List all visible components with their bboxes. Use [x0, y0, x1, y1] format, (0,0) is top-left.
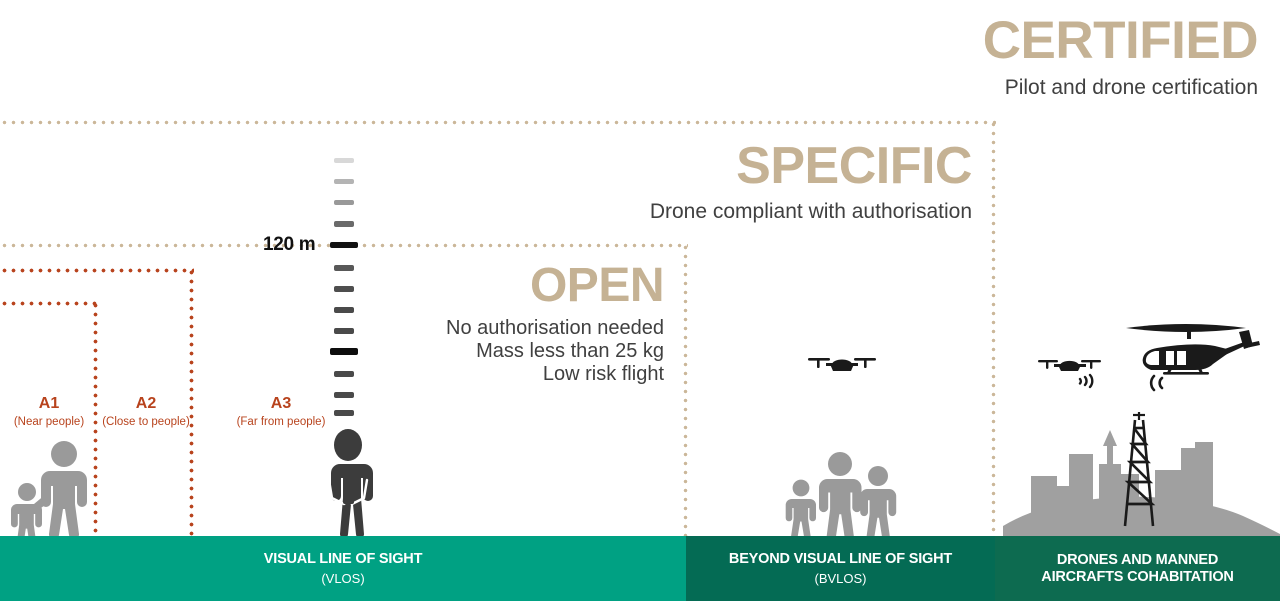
helicopter: [1121, 318, 1261, 398]
footer-bar-bvlos-subtitle: (BVLOS): [814, 571, 866, 586]
category-specific-subtitle: Drone compliant with authorisation: [650, 200, 972, 224]
footer-bar-cohabitation: DRONES AND MANNED AIRCRAFTS COHABITATION: [995, 536, 1280, 601]
altitude-label: 120 m: [263, 234, 315, 256]
category-certified: CERTIFIED Pilot and drone certification: [983, 14, 1258, 100]
zone-box-specific-right-border: [683, 243, 688, 536]
altitude-tick-9: [334, 328, 354, 334]
subcategory-a2: A2 (Close to people): [99, 396, 193, 429]
altitude-tick-7: [334, 286, 354, 292]
category-open-subtitle-line-1: No authorisation needed: [446, 317, 664, 340]
subcategory-a1-description: (Near people): [0, 416, 98, 429]
cityscape: [1003, 408, 1280, 536]
subcategory-a1: A1 (Near people): [0, 396, 98, 429]
subcategory-a2-description: (Close to people): [99, 416, 193, 429]
footer-bar-cohabitation-title-line-1: DRONES AND MANNED: [1057, 552, 1218, 569]
adult-and-child-silhouettes-icon: [6, 440, 96, 536]
subcategory-a3-code: A3: [196, 396, 366, 412]
vlos-people-group: [6, 440, 96, 536]
subcategory-a3: A3 (Far from people): [196, 396, 366, 429]
cohabitation-drone: [1036, 354, 1114, 398]
zone-box-a1-top-border: [0, 301, 98, 306]
zone-box-a2-top-border: [0, 268, 194, 273]
altitude-tick-11: [334, 371, 354, 377]
category-open: OPEN No authorisation needed Mass less t…: [446, 262, 664, 386]
altitude-tick-1: [334, 158, 354, 163]
altitude-tick-3: [334, 200, 354, 205]
drone-pilot-figure: [320, 428, 376, 536]
altitude-tick-2: [334, 179, 354, 184]
category-open-subtitle-line-3: Low risk flight: [446, 363, 664, 386]
altitude-tick-5: [330, 242, 358, 248]
altitude-tick-8: [334, 307, 354, 313]
quadcopter-drone-icon: [806, 352, 878, 378]
category-specific: SPECIFIC Drone compliant with authorisat…: [650, 140, 972, 224]
zone-box-certified-right-border: [991, 120, 996, 536]
infographic-canvas: CERTIFIED Pilot and drone certification …: [0, 0, 1280, 601]
category-certified-subtitle: Pilot and drone certification: [983, 76, 1258, 100]
zone-box-certified-top-border: [0, 120, 996, 125]
footer-bar-bvlos-title: BEYOND VISUAL LINE OF SIGHT: [729, 551, 952, 568]
bvlos-drone: [806, 352, 878, 378]
drone-pilot-with-controller-icon: [320, 428, 376, 536]
city-skyline-with-transmission-tower-icon: [1003, 408, 1280, 536]
three-people-silhouettes-icon: [782, 452, 902, 536]
helicopter-with-signal-icon: [1121, 318, 1261, 398]
bvlos-people-group: [782, 452, 902, 536]
footer-bar-vlos-title: VISUAL LINE OF SIGHT: [264, 551, 422, 568]
footer-bar-cohabitation-title-line-2: AIRCRAFTS COHABITATION: [1041, 569, 1233, 586]
category-open-title: OPEN: [446, 262, 664, 310]
quadcopter-drone-with-signal-icon: [1036, 354, 1114, 398]
category-specific-title: SPECIFIC: [650, 140, 972, 192]
altitude-tick-4: [334, 221, 354, 227]
category-open-subtitle-line-2: Mass less than 25 kg: [446, 340, 664, 363]
subcategory-a2-code: A2: [99, 396, 193, 412]
footer-bar-vlos-subtitle: (VLOS): [321, 571, 364, 586]
subcategory-a3-description: (Far from people): [196, 416, 366, 429]
footer-bar-vlos: VISUAL LINE OF SIGHT (VLOS): [0, 536, 686, 601]
category-certified-title: CERTIFIED: [983, 14, 1258, 67]
altitude-scale: [330, 158, 360, 413]
altitude-tick-6: [334, 265, 354, 271]
footer-bar-bvlos: BEYOND VISUAL LINE OF SIGHT (BVLOS): [686, 536, 995, 601]
subcategory-a1-code: A1: [0, 396, 98, 412]
altitude-tick-10: [330, 348, 358, 355]
